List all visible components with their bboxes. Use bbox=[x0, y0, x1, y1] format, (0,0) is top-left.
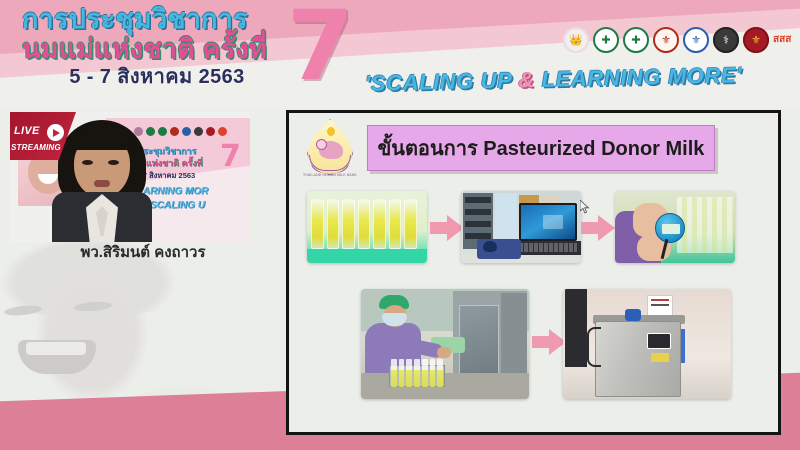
logo-thaihealth-icon: สสส bbox=[773, 27, 800, 53]
photo5-blue-tube bbox=[681, 329, 685, 363]
watermark-eye-left bbox=[4, 304, 43, 317]
photo2-laptop-screen bbox=[519, 203, 577, 241]
logo-ministry-public-health-icon: ✚ bbox=[593, 27, 619, 53]
conference-title-line2: นมแม่แห่งชาติ ครั้งที่ bbox=[22, 36, 292, 64]
speaker-mouth bbox=[94, 180, 110, 187]
conference-title: การประชุมวิชาการ นมแม่แห่งชาติ ครั้งที่ … bbox=[22, 6, 292, 87]
process-arrow-3-icon bbox=[532, 329, 566, 355]
tagline-part-2: LEARNING MORE' bbox=[535, 62, 743, 92]
photo4-nurse-hand bbox=[437, 347, 451, 358]
live-streaming-badge: LIVE STREAMING bbox=[10, 112, 76, 160]
slide-title: ขั้นตอนการ Pasteurized Donor Milk bbox=[378, 132, 705, 164]
milk-bank-logo-caption: THAILAND HUMAN MILK BANK bbox=[297, 173, 363, 177]
speaker-video-feed[interactable]: การประชุมวิชาการ นมแม่แห่งชาติ ครั้งที่ … bbox=[10, 112, 250, 242]
photo5-control-display bbox=[647, 333, 671, 349]
speaker-bangs bbox=[70, 128, 134, 150]
slide-stage: การประชุมวิชาการ นมแม่แห่งชาติ ครั้งที่ … bbox=[0, 0, 800, 450]
logo-thai-garuda-icon: ⚜ bbox=[683, 27, 709, 53]
photo-milk-bottle-racks[interactable] bbox=[307, 191, 427, 263]
photo4-glass-door bbox=[459, 305, 499, 383]
speaker-banner-number: 7 bbox=[220, 142, 241, 172]
logo-medical-council-icon: ⚕ bbox=[713, 27, 739, 53]
photo4-milk-bottles bbox=[391, 359, 443, 387]
photo-laptop-data-entry[interactable] bbox=[461, 191, 581, 263]
speaker-name: พว.สิริมนต์ คงถาวร bbox=[28, 240, 258, 264]
logo-nursing-council-icon: ⚜ bbox=[743, 27, 769, 53]
process-arrow-2-icon bbox=[581, 215, 615, 241]
photo5-cord bbox=[625, 309, 641, 321]
milk-bank-logo: THAILAND HUMAN MILK BANK bbox=[299, 117, 361, 183]
conference-title-line1: การประชุมวิชาการ bbox=[22, 6, 292, 34]
process-arrow-1-icon bbox=[430, 215, 464, 241]
sponsor-logos: 👑 ✚ ✚ ⚜ ⚜ ⚕ ⚜ สสส bbox=[563, 23, 795, 57]
watermark-teeth bbox=[26, 342, 86, 355]
play-icon bbox=[47, 124, 64, 141]
conference-header-banner: การประชุมวิชาการ นมแม่แห่งชาติ ครั้งที่ … bbox=[0, 0, 800, 108]
speaker-eye-right bbox=[108, 160, 119, 165]
baby-head-icon bbox=[316, 139, 327, 150]
speaker-eye-left bbox=[82, 160, 93, 165]
photo-pasteurizer-machine[interactable] bbox=[563, 289, 731, 399]
photo3-timer-device bbox=[655, 213, 685, 243]
photo5-hose bbox=[587, 327, 601, 367]
slide-title-box: ขั้นตอนการ Pasteurized Donor Milk bbox=[367, 125, 715, 171]
presentation-slide-panel[interactable]: THAILAND HUMAN MILK BANK ขั้นตอนการ Past… bbox=[286, 110, 781, 435]
photo2-mouse bbox=[483, 241, 497, 252]
photo-nurse-preparing-bottles[interactable] bbox=[361, 289, 529, 399]
photo1-bottle-racks bbox=[311, 199, 417, 249]
photo1-floor bbox=[307, 249, 427, 263]
logo-royal-patronage-icon: 👑 bbox=[563, 27, 589, 53]
conference-edition-number: 7 bbox=[287, 0, 354, 94]
watermark-eye-right bbox=[74, 301, 113, 313]
logo-royal-thai-emblem-icon: ⚜ bbox=[653, 27, 679, 53]
photo2-laptop-keyboard bbox=[519, 243, 577, 252]
watermark-mouth bbox=[18, 340, 96, 374]
speaker-banner-tag2: SCALING U bbox=[150, 200, 205, 211]
tagline-ampersand: & bbox=[518, 67, 535, 92]
conference-tagline: 'SCALING UP & LEARNING MORE' bbox=[365, 61, 794, 105]
photo4-bench bbox=[361, 373, 529, 399]
photo5-doorway bbox=[565, 289, 587, 367]
tagline-part-1: 'SCALING UP bbox=[365, 67, 519, 95]
live-label: LIVE bbox=[14, 125, 40, 137]
photo3-bottle-rack bbox=[677, 197, 733, 253]
photo5-label-sticker bbox=[651, 353, 669, 362]
conference-date: 5 - 7 สิงหาคม 2563 bbox=[22, 67, 292, 87]
streaming-label: STREAMING bbox=[11, 143, 61, 152]
logo-department-health-icon: ✚ bbox=[623, 27, 649, 53]
photo-digital-timer-thermometer[interactable] bbox=[615, 191, 735, 263]
mouse-cursor-icon bbox=[580, 200, 591, 214]
milk-droplet-icon bbox=[327, 127, 335, 136]
